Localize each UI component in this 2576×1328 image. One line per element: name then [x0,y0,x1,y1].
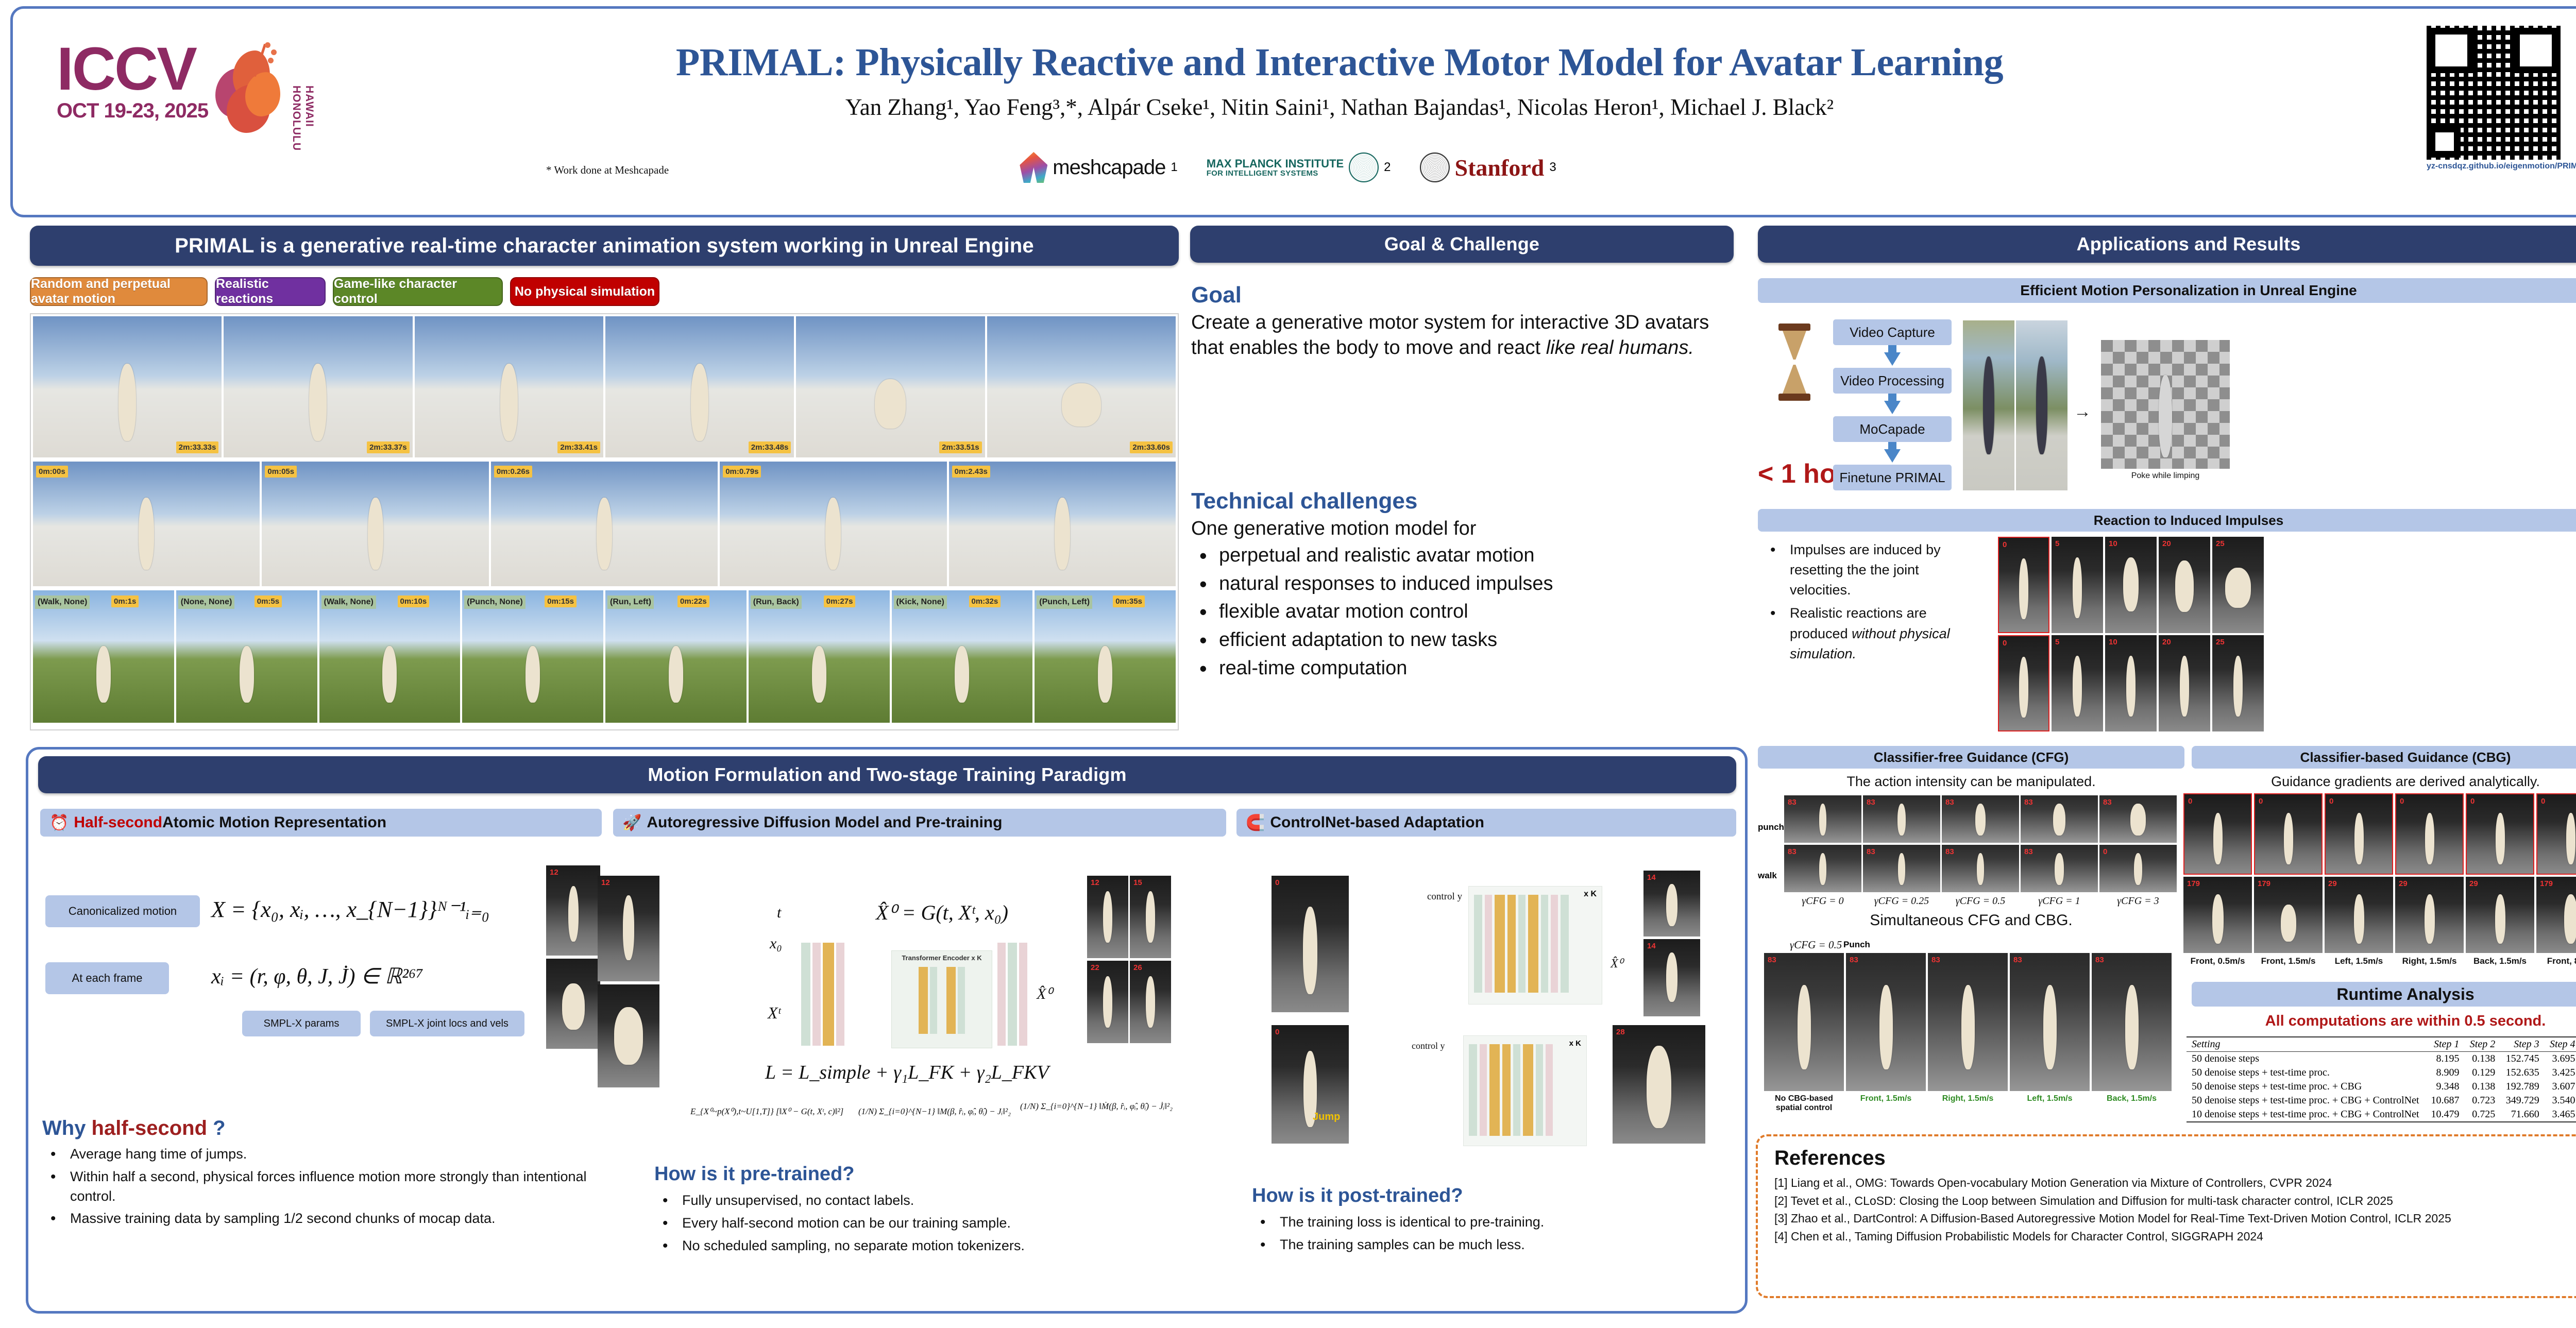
mpi-logo: MAX PLANCK INSTITUTE FOR INTELLIGENT SYS… [1207,152,1391,182]
iccv-logo: ICCV OCT 19-23, 2025 HONOLULU HAWAII [57,41,315,151]
frame: 0 [2254,793,2323,875]
cell-step4: 3.695 [2545,1052,2576,1066]
timestamp-badge: 0m:0.26s [494,466,532,478]
control-label: (Run, Back) [751,595,802,609]
frame: 0 [2183,793,2252,875]
autoregressive-title-label: Autoregressive Diffusion Model and Pre-t… [647,814,1002,831]
table-row: 50 denoise steps + test-time proc. + CBG… [2187,1080,2576,1094]
cfg-subtitle: The action intensity can be manipulated. [1758,774,2184,790]
xk-label: x K [1584,890,1597,899]
left-panel-banner: PRIMAL is a generative real-time charact… [30,226,1179,266]
list-item: No scheduled sampling, no separate motio… [654,1236,1231,1256]
control-label: (None, None) [178,595,235,609]
affiliation-logos: meshcapade 1 MAX PLANCK INSTITUTE FOR IN… [876,144,1700,191]
frame: 2m:33.41s [415,316,603,457]
posttrained-list: The training loss is identical to pre-tr… [1252,1213,1731,1258]
cbg-col-label: Front, 8m/s [2536,956,2576,966]
timestamp-badge: 0m:1s [111,595,139,607]
control-y-label: control y [1427,891,1462,903]
cell-step2: 0.723 [2464,1094,2500,1108]
frame: 15 [1130,876,1171,958]
author-footnote: * Work done at Meshcapade [546,164,669,177]
frame [2101,340,2230,469]
encoder-stack-left [801,943,844,1046]
frame: 2m:33.51s [796,316,985,457]
frame: 0m:2.43s [949,462,1176,586]
pointing-hand-icon [2349,88,2411,126]
cell-step4: 3.540 [2545,1094,2576,1108]
controlnet-result-bottom: 28 [1613,1025,1705,1144]
pipeline-step: Video Capture [1833,319,1952,345]
pill-random-motion: Random and perpetual avatar motion [30,277,208,306]
timestamp-badge: 2m:33.51s [939,441,982,453]
pill-label: Random and perpetual avatar motion [31,277,207,307]
project-url[interactable]: yz-cnsdqz.github.io/eigenmotion/PRIMAL [2427,162,2576,171]
frame-number: 0 [2103,847,2107,856]
bottom-panel-banner: Motion Formulation and Two-stage Trainin… [38,756,1736,793]
half-second-title: ⏰ Half-second Atomic Motion Representati… [40,809,602,837]
cell-step3: 71.660 [2500,1108,2544,1122]
frame-number: 0 [2188,797,2192,806]
cfg-cbg-label: Right, 1.5m/s [1928,1094,2008,1113]
left-grid-row-3: (Walk, None) 0m:1s (None, None) 0m:5s (W… [31,588,1178,725]
timestamp-badge: 2m:33.41s [557,441,600,453]
frame: 83 [1784,845,1861,892]
cell-step2: 0.138 [2464,1080,2500,1094]
timestamp-badge: 0m:2.43s [952,466,990,478]
frame: 10 [2105,635,2157,731]
frame: (None, None) 0m:5s [176,590,317,723]
frame: 83 [1784,795,1861,843]
frame: 83 [1942,795,2019,843]
list-item: natural responses to induced impulses [1191,571,1737,597]
cfg-col-label: γCFG = 1 [2021,895,2098,907]
table-header-row: Setting Step 1 Step 2 Step 3 Step 4 Tota… [2187,1037,2576,1052]
cfg-col-label: γCFG = 0.5 [1942,895,2019,907]
result-caption: Poke while limping [2101,471,2230,481]
timestamp-badge: 2m:33.48s [749,441,791,453]
frame: 83 [2010,953,2090,1091]
cbg-col-label: Left, 1.5m/s [2325,956,2393,966]
table-row: 50 denoise steps + test-time proc. + CBG… [2187,1094,2576,1108]
frame: 83 [1928,953,2008,1091]
controlnet-block-top: x K [1468,886,1602,1004]
equation-canonicalized-motion: X = {x₀, xᵢ, …, x_{N−1}}ᴺ⁻¹ᵢ₌₀ [211,896,489,923]
impulses-grid-row2: 0 5 10 20 25 [1998,635,2264,731]
frame-number: 14 [1647,942,1656,950]
frame-number: 83 [1931,956,1940,964]
controlnet-diagram-top: 0 [1272,876,1349,1012]
frame: 83 [1846,953,1926,1091]
left-grid-row-1: 2m:33.33s 2m:33.37s 2m:33.41s 2m:33.48s … [31,314,1178,459]
pill-label: Game-like character control [334,277,502,307]
frame: 20 [2159,537,2210,633]
col-header: Setting [2187,1037,2426,1052]
frame-number: 0 [2470,797,2475,806]
cell-step1: 8.195 [2426,1052,2464,1066]
list-item: Every half-second motion can be our trai… [654,1214,1231,1233]
frame: 83 [2021,795,2098,843]
table-row: 10 denoise steps + test-time proc. + CBG… [2187,1108,2576,1122]
frame-number: 0 [2003,540,2007,549]
timestamp-badge: 0m:10s [398,595,430,607]
timestamp-badge: 2m:33.60s [1130,441,1173,453]
frame: (Kick, None) 0m:32s [892,590,1033,723]
cbg-col-label: Front, 0.5m/s [2183,956,2252,966]
frame-number: 5 [2055,638,2059,646]
frame-number: 14 [1647,873,1656,882]
cell-step1: 10.687 [2426,1094,2464,1108]
frame-number: 20 [2162,539,2171,548]
frame-number: 0 [2259,797,2263,806]
frame: 0m:05s [262,462,488,586]
frame: 179 [2254,877,2323,953]
frame-number: 29 [2469,879,2478,888]
cbg-grid-row2: 179 179 29 29 29 179 [2183,877,2576,953]
cell-step1: 10.479 [2426,1108,2464,1122]
frame-number: 83 [2103,798,2112,807]
frame: 14 [1643,871,1700,937]
frame: (Run, Back) 0m:27s [749,590,890,723]
cfg-cbg-labels: No CBG-based spatial control Front, 1.5m… [1764,1094,2172,1113]
posttrained-heading: How is it post-trained? [1252,1185,1463,1207]
frame: (Walk, None) 0m:10s [319,590,461,723]
jump-annotation: Jump [1313,1111,1340,1123]
meshcapade-logo: meshcapade 1 [1020,152,1177,183]
frame: 0 [2466,793,2534,875]
frame: (Punch, Left) 0m:35s [1035,590,1176,723]
frame-number: 83 [1945,798,1954,807]
cfg-col-label: γCFG = 0 [1784,895,1861,907]
loss-term-fkv: (1/N) Σ_{i=0}^{N−1} ‖Ṁ(β, r̂ᵢ, φ̂ᵢ, θ̂ᵢ)… [1020,1101,1173,1112]
col-header: Step 2 [2464,1037,2500,1052]
poster-root: ICCV OCT 19-23, 2025 HONOLULU HAWAII PRI… [0,0,2576,1328]
frame-number: 0 [2003,639,2007,648]
loss-term-simple: E_{X⁰~p(X⁰),t~U[1,T]} [‖X⁰ − G(t, Xᵗ, c)… [690,1106,843,1117]
input-label-xt: Xᵗ [768,1003,781,1023]
frame: 83 [1764,953,1844,1091]
frame: 12 [1087,876,1128,958]
cell-setting: 50 denoise steps + test-time proc. + CBG [2187,1080,2426,1094]
frame: (Run, Left) 0m:22s [605,590,747,723]
control-label: (Run, Left) [607,595,654,609]
frame: 10 [2105,537,2157,633]
col-header: Step 1 [2426,1037,2464,1052]
cfg-col-label: γCFG = 0.25 [1863,895,1940,907]
frame: 12 [598,876,659,981]
cbg-col-label: Right, 1.5m/s [2395,956,2464,966]
tag-canonicalized-motion: Canonicalized motion [45,895,200,927]
frame: 28 [1613,1025,1705,1144]
unreal-result-block: Poke while limping [2101,340,2230,481]
cfg-grid-row1: 83 83 83 83 83 [1784,795,2177,843]
timestamp-badge: 0m:00s [36,466,68,478]
col2-input-frames: 12 [598,876,659,1087]
timestamp-badge: 0m:05s [265,466,297,478]
frame-number: 20 [2162,638,2171,646]
cfg-cbg-label: No CBG-based spatial control [1764,1094,1844,1113]
cfg-col-label: γCFG = 3 [2099,895,2177,907]
frame: 0 [1998,635,2049,731]
cell-step3: 152.745 [2500,1052,2544,1066]
frame: 0 [2325,793,2393,875]
frame: 5 [2052,537,2103,633]
frame-number: 26 [1133,963,1142,972]
frame-number: 83 [2095,956,2104,964]
reference-item: [2] Tevet et al., CLoSD: Closing the Loo… [1774,1192,2576,1210]
frame [2016,320,2067,490]
cfg-cbg-simul-title: Simultaneous CFG and CBG. [1758,912,2184,929]
hibiscus-icon [211,41,289,139]
cell-step2: 0.129 [2464,1066,2500,1080]
frame-number: 10 [2109,638,2117,646]
list-item: Massive training data by sampling 1/2 se… [42,1209,609,1229]
iccv-city: HONOLULU [291,86,302,151]
frame: 0m:0.79s [720,462,946,586]
hourglass-icon [1776,324,1812,401]
table-row: 50 denoise steps + test-time proc. 8.909… [2187,1066,2576,1080]
frame: 29 [2325,877,2393,953]
autoregressive-title: 🚀 Autoregressive Diffusion Model and Pre… [613,809,1226,837]
list-item: Fully unsupervised, no contact labels. [654,1191,1231,1211]
pipeline-step: Finetune PRIMAL [1833,465,1952,490]
reference-item: [1] Liang et al., OMG: Towards Open-voca… [1774,1174,2576,1192]
frame-number: 15 [1133,878,1142,887]
timestamp-badge: 0m:35s [1113,595,1145,607]
frame-number: 83 [1768,956,1776,964]
frame: 0m:0.26s [491,462,718,586]
list-item: flexible avatar motion control [1191,599,1737,624]
frame-number: 83 [1788,798,1797,807]
encoder-label: Transformer Encoder x K [892,954,992,962]
iccv-state: HAWAII [303,86,315,151]
frame: 2m:33.48s [605,316,794,457]
frame: 83 [2099,795,2177,843]
list-item: Realistic reactions are produced without… [1762,603,1978,663]
frame-number: 0 [1275,1028,1279,1036]
frame [546,959,600,1049]
cell-setting: 10 denoise steps + test-time proc. + CBG… [2187,1108,2426,1122]
meshcapade-sup: 1 [1171,160,1177,175]
control-label: (Walk, None) [35,595,90,609]
iccv-dates: OCT 19-23, 2025 [57,99,208,123]
frame: 83 [2021,845,2098,892]
cell-step3: 152.635 [2500,1066,2544,1080]
frame-number: 22 [1091,963,1099,972]
frame-number: 83 [1850,956,1858,964]
col-header: Step 4 [2545,1037,2576,1052]
frame-number: 179 [2540,879,2553,888]
cell-step4: 3.607 [2545,1080,2576,1094]
frame: 179 [2183,877,2252,953]
goal-heading: Goal [1191,282,1242,308]
timestamp-badge: 0m:27s [824,595,856,607]
mpi-sup: 2 [1384,160,1391,175]
why-prefix: Why [42,1117,92,1139]
frame-number: 29 [2328,879,2337,888]
control-y-label-bottom: control y [1412,1041,1445,1051]
cfg-cbg-action: Punch [1843,940,1870,950]
frame: 0 Jump [1272,1025,1349,1144]
cell-step1: 8.909 [2426,1066,2464,1080]
output-label: X̂⁰ [1037,985,1052,1003]
video-capture-images [1963,320,2067,490]
goal-text: Create a generative motor system for int… [1191,310,1727,360]
frame-number: 83 [2024,798,2033,807]
frame-number: 0 [2400,797,2404,806]
frame: 179 [2536,877,2576,953]
cfg-title: Classifier-free Guidance (CFG) [1758,746,2184,769]
frame: 20 [2159,635,2210,731]
runtime-title: Runtime Analysis [2192,982,2576,1007]
table-row: 50 denoise steps 8.195 0.138 152.745 3.6… [2187,1052,2576,1066]
frame: 0 [2536,793,2576,875]
cfg-cbg-label: Back, 1.5m/s [2092,1094,2172,1113]
frame: 0 [2395,793,2464,875]
cell-setting: 50 denoise steps + test-time proc. + CBG… [2187,1094,2426,1108]
frame-number: 12 [550,868,558,877]
frame: 29 [2466,877,2534,953]
impulses-title: Reaction to Induced Impulses [1758,509,2576,532]
cfg-cbg-label: Left, 1.5m/s [2010,1094,2090,1113]
mpi-line1: MAX PLANCK INSTITUTE [1207,158,1344,169]
why-suffix: ? [207,1117,226,1139]
callout-smplx-joints: SMPL-X joint locs and vels [370,1011,524,1036]
frame: 2m:33.33s [33,316,222,457]
controlnet-diagram-bottom: 0 Jump [1272,1025,1349,1144]
controlnet-output-top: X̂⁰ [1611,956,1623,971]
controlnet-title: 🧲 ControlNet-based Adaptation [1236,809,1736,837]
why-half-second-list: Average hang time of jumps. Within half … [42,1145,609,1232]
impulses-bullets: Impulses are induced by resetting the th… [1762,540,1978,667]
controlnet-block-bottom: x K [1463,1035,1587,1146]
reference-item: [4] Chen et al., Taming Diffusion Probab… [1774,1228,2576,1246]
frame-number: 25 [2216,539,2225,548]
pill-realistic-reactions: Realistic reactions [215,277,326,306]
controlnet-title-label: ControlNet-based Adaptation [1270,814,1484,831]
input-label-x0: x₀ [770,935,782,952]
challenge-list: perpetual and realistic avatar motion na… [1191,543,1737,684]
timestamp-badge: 0m:0.79s [723,466,761,478]
frame-number: 83 [1945,847,1954,856]
frame-number: 28 [1616,1028,1625,1036]
frame-number: 179 [2258,879,2270,888]
cfg-row-label-walk: walk [1758,871,1777,881]
loss-equation: L = L_simple + γ₁L_FK + γ₂L_FKV [765,1061,1049,1084]
list-item: Impulses are induced by resetting the th… [1762,540,1978,600]
list-item: efficient adaptation to new tasks [1191,627,1737,653]
challenge-heading: Technical challenges [1191,488,1417,514]
cbg-col-labels: Front, 0.5m/s Front, 1.5m/s Left, 1.5m/s… [2183,956,2576,966]
pill-label: No physical simulation [515,284,655,299]
col1-frames: 12 [546,865,600,1049]
timestamp-badge: 0m:32s [969,595,1001,607]
frame-number: 83 [1867,847,1875,856]
pill-game-control: Game-like character control [333,277,503,306]
control-label: (Kick, None) [894,595,947,609]
mpi-seal-icon [1349,152,1379,182]
qr-code-icon[interactable] [2427,26,2561,160]
page-title: PRIMAL: Physically Reactive and Interact… [371,40,2308,85]
frame: 5 [2052,635,2103,731]
cell-step4: 3.465 [2545,1108,2576,1122]
frame: 12 [546,865,600,956]
cfg-row-label-punch: punch [1758,822,1784,832]
cell-step2: 0.138 [2464,1052,2500,1066]
runtime-claim: All computations are within 0.5 second. [2192,1013,2576,1030]
loss-term-fk: (1/N) Σ_{i=0}^{N−1} ‖M(β, r̂ᵢ, φ̂ᵢ, θ̂ᵢ)… [858,1106,1011,1117]
pipeline-step: Video Processing [1833,368,1952,394]
timestamp-badge: 0m:5s [255,595,282,607]
left-image-grid: 2m:33.33s 2m:33.37s 2m:33.41s 2m:33.48s … [30,313,1179,730]
equation-frame-state: xᵢ = (r, φ, θ, J, J̇) ∈ ℝ²⁶⁷ [211,963,423,989]
cfg-cbg-grid: 83 83 83 83 83 [1764,953,2172,1091]
frame: 25 [2212,537,2264,633]
pipeline-step: MoCapade [1833,416,1952,442]
magnet-icon: 🧲 [1246,814,1265,832]
frame-number: 83 [2024,847,2033,856]
challenge-lead: One generative motion model for [1191,516,1476,541]
frame-number: 0 [1275,878,1279,887]
iccv-wordmark: ICCV [57,41,208,97]
frame-number: 179 [2187,879,2200,888]
callout-smplx-params: SMPL-X params [242,1011,361,1036]
pill-label: Realistic reactions [216,277,325,307]
rocket-icon: 🚀 [622,814,641,832]
frame-number: 29 [2399,879,2408,888]
applications-banner: Applications and Results [1758,226,2576,263]
arrow-to-result-icon: → [2074,402,2091,422]
frame-number: 25 [2216,638,2225,646]
cfg-col-labels: γCFG = 0 γCFG = 0.25 γCFG = 0.5 γCFG = 1… [1784,895,2177,907]
frame-number: 83 [1867,798,1875,807]
frame: 14 [1643,939,1700,1016]
list-item: Within half a second, physical forces in… [42,1167,609,1206]
why-red: half-second [92,1117,207,1139]
frame: (Walk, None) 0m:1s [33,590,174,723]
col-header: Step 3 [2500,1037,2544,1052]
frame: 0 [1272,876,1349,1012]
personalization-pipeline: Video Capture Video Processing MoCapade … [1833,319,1952,490]
meshcapade-mark-icon [1020,152,1047,183]
references-title: References [1774,1147,2576,1170]
timestamp-badge: 0m:15s [545,595,577,607]
timestamp-badge: 2m:33.33s [176,441,219,453]
frame [598,984,659,1087]
frame-number: 83 [1788,847,1797,856]
left-grid-row-2: 0m:00s 0m:05s 0m:0.26s 0m:0.79s 0m:2.43s [31,459,1178,588]
frame-number: 83 [2013,956,2022,964]
pretrained-heading: How is it pre-trained? [654,1163,854,1185]
frame-number: 5 [2055,539,2059,548]
frame: 83 [2092,953,2172,1091]
frame: 2m:33.37s [224,316,412,457]
frame [1963,320,2014,490]
frame: 25 [2212,635,2264,731]
cell-step3: 349.729 [2500,1094,2544,1108]
frame: 22 [1087,961,1128,1043]
impulses-grid-row1: 0 5 10 20 25 [1998,537,2264,633]
why-half-second-heading: Why half-second ? [42,1117,226,1140]
half-second-red: Half-second [74,814,162,831]
mpi-line2: FOR INTELLIGENT SYSTEMS [1207,169,1344,178]
frame-number: 0 [2541,797,2545,806]
tag-at-each-frame: At each frame [45,962,169,994]
qr-block[interactable]: yz-cnsdqz.github.io/eigenmotion/PRIMAL [2427,26,2576,171]
xk-label-bottom: x K [1569,1039,1581,1048]
frame: 0 [1998,537,2049,633]
timestamp-badge: 0m:22s [677,595,709,607]
